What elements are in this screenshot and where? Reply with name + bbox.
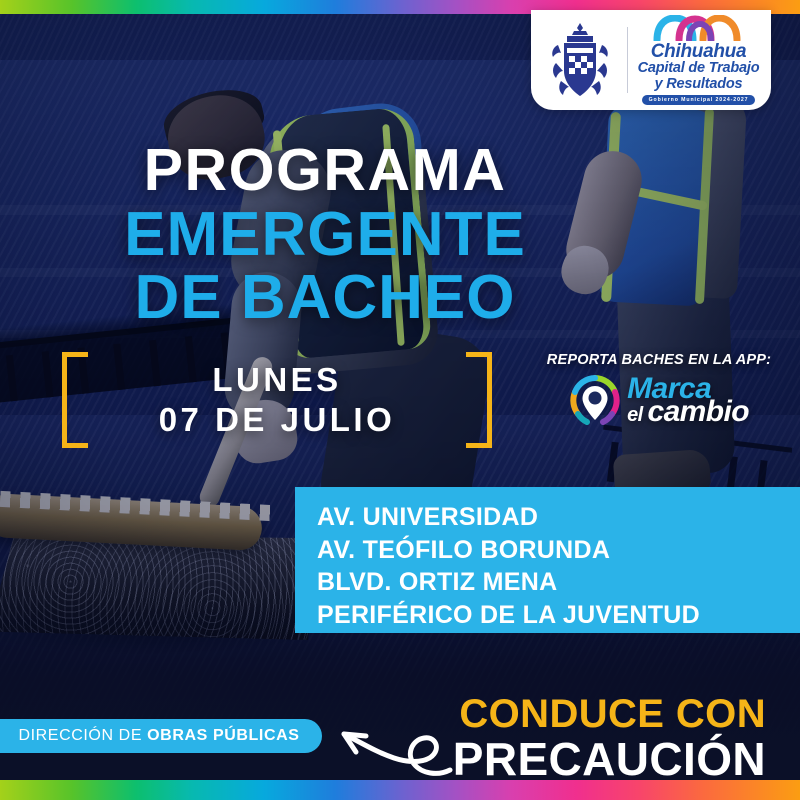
- caution-line-2: PRECAUCIÓN: [453, 736, 766, 783]
- app-name-el: el: [627, 404, 647, 426]
- date-block: LUNES 07 DE JULIO: [62, 352, 492, 448]
- bracket-right-icon: [466, 352, 492, 448]
- date-day-date: 07 DE JULIO: [88, 400, 466, 440]
- caution-line-1: CONDUCE CON: [453, 694, 766, 734]
- brand-line-2: Capital de Trabajo: [638, 61, 760, 77]
- department-label: DIRECCIÓN DE OBRAS PÚBLICAS: [18, 727, 299, 745]
- title-line-1: PROGRAMA: [0, 142, 650, 200]
- bracket-left-icon: [62, 352, 88, 448]
- brand-line-1: Chihuahua: [651, 42, 746, 61]
- street-list-panel: AV. UNIVERSIDAD AV. TEÓFILO BORUNDA BLVD…: [295, 487, 800, 633]
- date-day-name: LUNES: [88, 360, 466, 400]
- chihuahua-arcs-icon: [653, 15, 745, 41]
- title-line-2: EMERGENTE: [0, 203, 650, 266]
- brand-government-period: Gobierno Municipal 2024-2027: [642, 95, 756, 105]
- chihuahua-coat-of-arms-icon: [543, 18, 617, 102]
- poster-canvas: Chihuahua Capital de Trabajo y Resultado…: [0, 0, 800, 800]
- government-logo-panel: Chihuahua Capital de Trabajo y Resultado…: [531, 10, 771, 110]
- curly-arrow-left-icon: [318, 700, 458, 778]
- department-label-regular: DIRECCIÓN DE: [18, 727, 147, 744]
- date-text: LUNES 07 DE JULIO: [88, 360, 466, 441]
- marca-el-cambio-logo[interactable]: Marca el cambio: [528, 374, 790, 426]
- logo-divider: [627, 27, 628, 93]
- list-item: AV. TEÓFILO BORUNDA: [317, 534, 800, 567]
- app-name-cambio: cambio: [648, 395, 749, 428]
- page-title: PROGRAMA EMERGENTE DE BACHEO: [0, 142, 650, 329]
- app-name: Marca el cambio: [627, 375, 749, 425]
- title-line-3: DE BACHEO: [0, 266, 650, 329]
- app-promo-label: REPORTA BACHES EN LA APP:: [528, 352, 790, 368]
- caution-message: CONDUCE CON PRECAUCIÓN: [453, 694, 766, 783]
- department-label-bold: OBRAS PÚBLICAS: [147, 727, 299, 744]
- brand-line-3: y Resultados: [655, 77, 743, 93]
- app-name-elcambio: el cambio: [627, 398, 749, 426]
- location-pin-icon: [569, 374, 621, 426]
- app-promo-block: REPORTA BACHES EN LA APP: Marca el cambi…: [528, 352, 790, 426]
- list-item: PERIFÉRICO DE LA JUVENTUD: [317, 599, 800, 632]
- department-badge: DIRECCIÓN DE OBRAS PÚBLICAS: [0, 719, 322, 753]
- list-item: BLVD. ORTIZ MENA: [317, 566, 800, 599]
- chihuahua-brand-lockup: Chihuahua Capital de Trabajo y Resultado…: [638, 15, 760, 105]
- list-item: AV. UNIVERSIDAD: [317, 501, 800, 534]
